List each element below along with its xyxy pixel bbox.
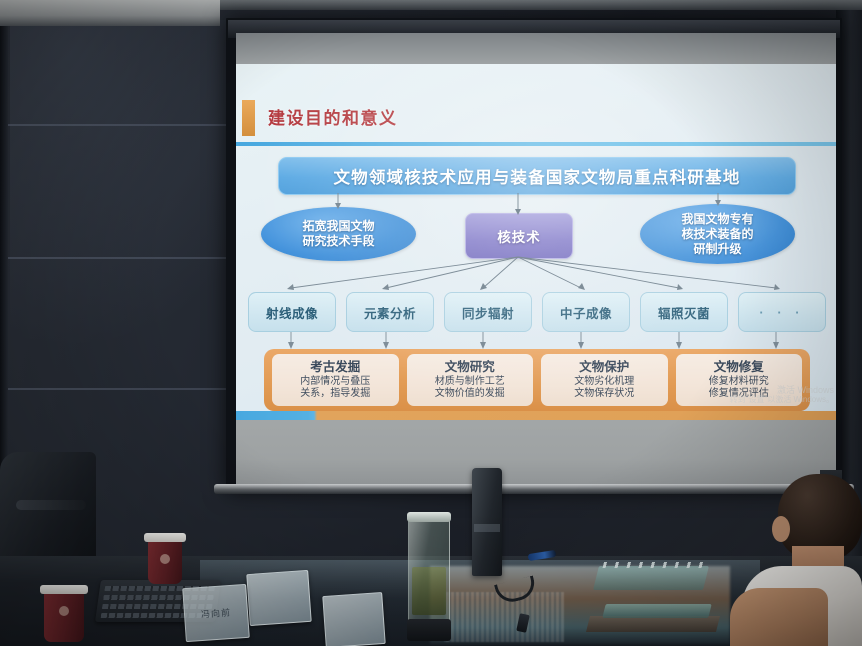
tag-synchrotron-radiation: 同步辐射 [444, 292, 532, 332]
card-heading: 文物修复 [714, 360, 764, 375]
conference-room-scene: 建设目的和意义 文物领域核技术应用与装备国家文物局重点科研基地 拓宽我国文物 研… [0, 0, 862, 646]
title-accent-bar [242, 100, 255, 136]
slide-title: 建设目的和意义 [268, 104, 398, 129]
card-line: 文物价值的发掘 [435, 388, 505, 400]
card-relic-protection: 文物保护 文物劣化机理 文物保存状况 [541, 354, 668, 406]
tag-label: 射线成像 [266, 303, 318, 322]
tea-jar-lid [407, 512, 451, 522]
root-node-banner: 文物领域核技术应用与装备国家文物局重点科研基地 [278, 157, 796, 195]
tag-neutron-imaging: 中子成像 [542, 292, 630, 332]
tea-jar-base [407, 619, 451, 641]
tag-xray-imaging: 射线成像 [248, 292, 336, 332]
root-node-label: 文物领域核技术应用与装备国家文物局重点科研基地 [333, 164, 740, 188]
tag-label: 同步辐射 [462, 303, 514, 322]
notebook [593, 566, 709, 590]
notebook-secondary [602, 604, 711, 618]
card-heading: 文物保护 [579, 360, 629, 375]
glass-tea-jar [408, 516, 450, 636]
node-right-label: 我国文物专有 核技术装备的 研制升级 [681, 212, 753, 257]
screen-gray-area-top [236, 33, 836, 64]
presentation-slide: 建设目的和意义 文物领域核技术应用与装备国家文物局重点科研基地 拓宽我国文物 研… [236, 64, 836, 416]
screen-gray-area-bottom [236, 415, 836, 488]
card-line: 内部情况与叠压 [300, 376, 370, 388]
projection-screen: 建设目的和意义 文物领域核技术应用与装备国家文物局重点科研基地 拓宽我国文物 研… [236, 33, 836, 488]
cup-logo [160, 554, 170, 564]
card-archaeological-excavation: 考古发掘 内部情况与叠压 关系，指导发掘 [272, 354, 399, 406]
card-line: 材质与制作工艺 [435, 376, 505, 388]
tag-label: · · · [759, 305, 804, 320]
node-left-label: 拓宽我国文物 研究技术手段 [302, 219, 374, 249]
card-line: 文物保存状况 [574, 388, 634, 400]
paper-cup [44, 592, 84, 642]
name-plate [322, 592, 385, 646]
name-plate: 冯向前 [182, 584, 250, 642]
watermark-line-1: 激活 Windows [654, 385, 834, 395]
tag-label: 元素分析 [364, 303, 416, 322]
card-heading: 考古发掘 [310, 360, 360, 375]
node-core-label: 核技术 [497, 226, 541, 246]
cup-lid [40, 585, 88, 594]
node-left-ellipse: 拓宽我国文物 研究技术手段 [261, 207, 416, 261]
node-core-technology: 核技术 [465, 213, 573, 259]
thermos [472, 468, 502, 576]
title-divider-rule [236, 142, 836, 146]
ceiling-corner [0, 0, 220, 26]
tea-leaves [412, 567, 446, 615]
tag-ellipsis: · · · [738, 292, 826, 332]
tag-label: 辐照灭菌 [658, 303, 710, 322]
card-heading: 文物研究 [445, 360, 495, 375]
technology-tag-row: 射线成像 元素分析 同步辐射 中子成像 辐照灭菌 · · · [248, 292, 826, 332]
tag-element-analysis: 元素分析 [346, 292, 434, 332]
chair-armrest [16, 500, 86, 510]
slide-footer-bar [236, 411, 836, 420]
seated-person-ear [772, 516, 790, 542]
card-relic-research: 文物研究 材质与制作工艺 文物价值的发掘 [407, 354, 534, 406]
booklet [586, 616, 720, 632]
cup-lid [144, 533, 186, 542]
tag-label: 中子成像 [560, 303, 612, 322]
screen-bottom-weight-bar [214, 484, 854, 494]
notebook-rings [602, 562, 705, 568]
office-chair [0, 452, 96, 572]
card-line: 关系，指导发掘 [300, 388, 370, 400]
cup-logo [59, 606, 69, 616]
paper-cup [148, 540, 182, 584]
tag-irradiation-sterilization: 辐照灭菌 [640, 292, 728, 332]
seated-person-arm [730, 588, 828, 646]
windows-activation-watermark: 激活 Windows 转到"设置"以激活 Windows。 [654, 385, 834, 405]
name-plate [246, 570, 311, 626]
name-plate-text: 冯向前 [201, 605, 232, 620]
node-right-ellipse: 我国文物专有 核技术装备的 研制升级 [640, 204, 795, 264]
card-line: 文物劣化机理 [574, 376, 634, 388]
watermark-line-2: 转到"设置"以激活 Windows。 [654, 395, 834, 404]
